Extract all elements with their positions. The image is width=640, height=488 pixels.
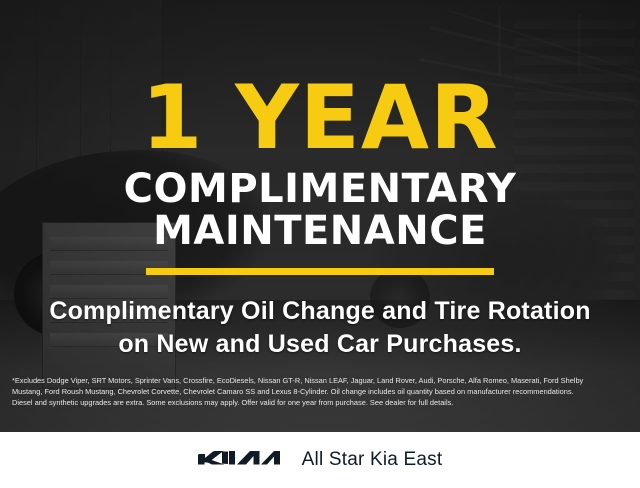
dealer-name: All Star Kia East — [302, 449, 443, 471]
promo-content: 1 YEAR COMPLIMENTARY MAINTENANCE Complim… — [0, 0, 640, 432]
subhead-complimentary: COMPLIMENTARY — [0, 160, 640, 210]
offer-description-line2: on New and Used Car Purchases. — [0, 328, 640, 361]
headline-1-year: 1 YEAR — [0, 0, 640, 160]
subhead-maintenance: MAINTENANCE — [0, 210, 640, 252]
footer-bar: All Star Kia East — [0, 432, 640, 488]
offer-description-line1: Complimentary Oil Change and Tire Rotati… — [0, 275, 640, 328]
yellow-divider-bar — [146, 268, 494, 275]
advertisement-banner: 1 YEAR COMPLIMENTARY MAINTENANCE Complim… — [0, 0, 640, 488]
kia-logo-icon — [198, 445, 280, 476]
